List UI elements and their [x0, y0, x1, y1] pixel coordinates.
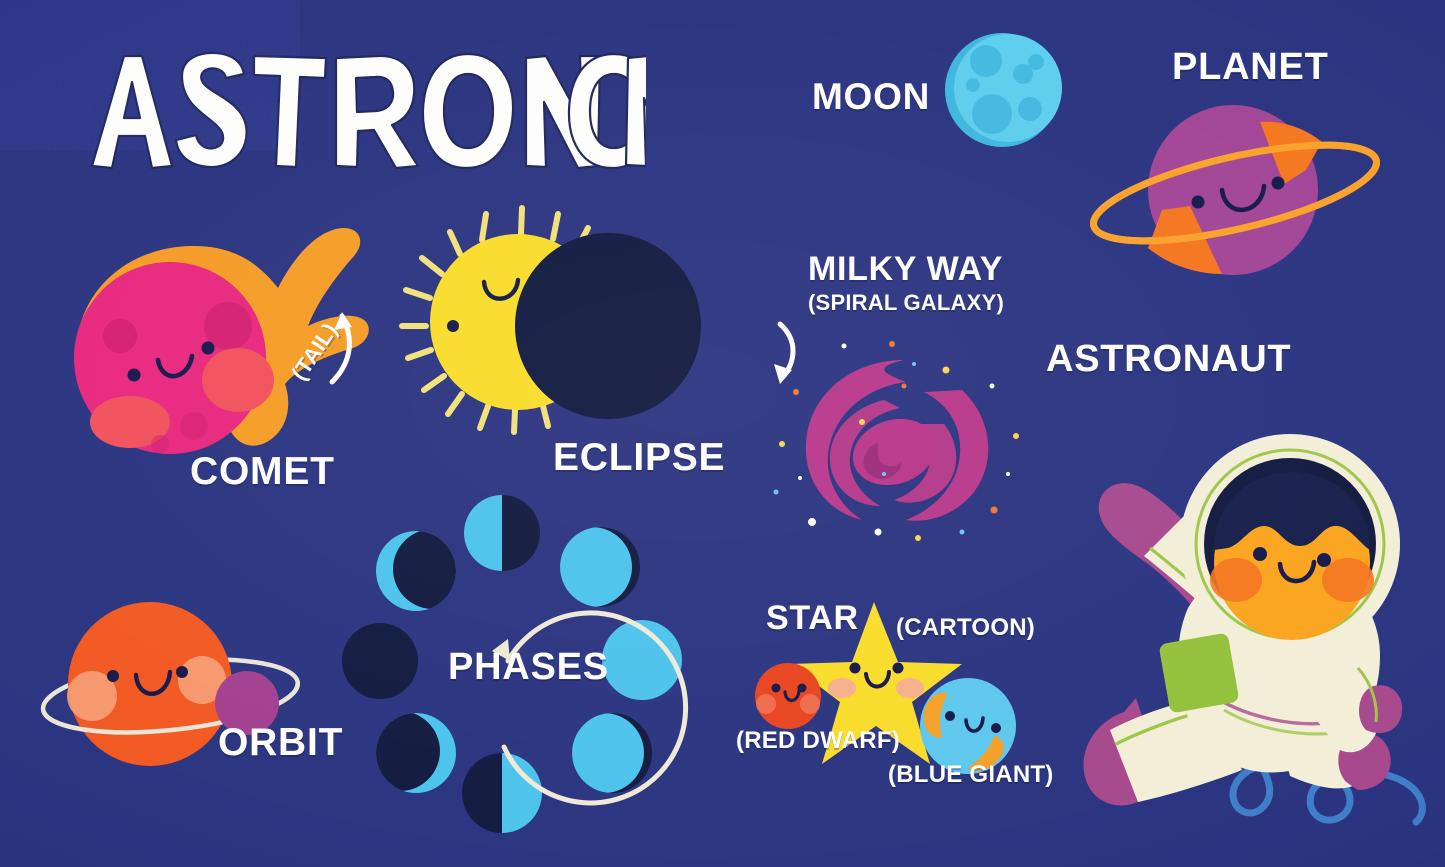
eclipse-label: ECLIPSE — [553, 438, 725, 477]
milky-way-sublabel: (SPIRAL GALAXY) — [808, 292, 1004, 314]
moon-phase-bottom — [462, 751, 546, 837]
astronomy-poster: COMET (TAIL) — [0, 0, 1445, 867]
eclipse-illustration — [398, 198, 708, 458]
moon-illustration — [942, 28, 1062, 150]
blue-giant-sublabel: (BLUE GIANT) — [888, 763, 1054, 787]
moon-phase-lower-left — [360, 711, 456, 793]
astronaut-chest-pack — [1158, 632, 1239, 713]
red-dwarf-sublabel: (RED DWARF) — [736, 729, 900, 753]
phases-label: PHASES — [448, 648, 609, 686]
red-dwarf-star — [755, 663, 821, 729]
moon-phase-top — [460, 491, 540, 575]
moon-phase-lower-right — [564, 713, 652, 793]
milky-way-label: MILKY WAY — [808, 252, 1003, 286]
moon-phase-upper-right — [552, 527, 640, 607]
orbit-label: ORBIT — [218, 723, 343, 762]
moon-label: MOON — [812, 78, 930, 115]
moon-phase-upper-left — [376, 529, 473, 611]
star-label: STAR — [766, 601, 859, 635]
planet-label: PLANET — [1172, 48, 1329, 86]
astronaut-label: ASTRONAUT — [1046, 340, 1291, 378]
blue-giant-star — [920, 678, 1016, 774]
planet-illustration — [1070, 98, 1400, 288]
milky-way-arrow — [764, 318, 814, 390]
galaxy-arms — [806, 360, 988, 521]
eclipse-shadow-disc — [515, 233, 701, 419]
star-cartoon-sublabel: (CARTOON) — [896, 616, 1035, 640]
moon-phase-left — [342, 623, 418, 699]
comet-label: COMET — [190, 452, 335, 491]
astronaut-helmet — [1180, 434, 1400, 654]
page-title — [86, 44, 646, 174]
astronaut-illustration — [1028, 392, 1445, 867]
